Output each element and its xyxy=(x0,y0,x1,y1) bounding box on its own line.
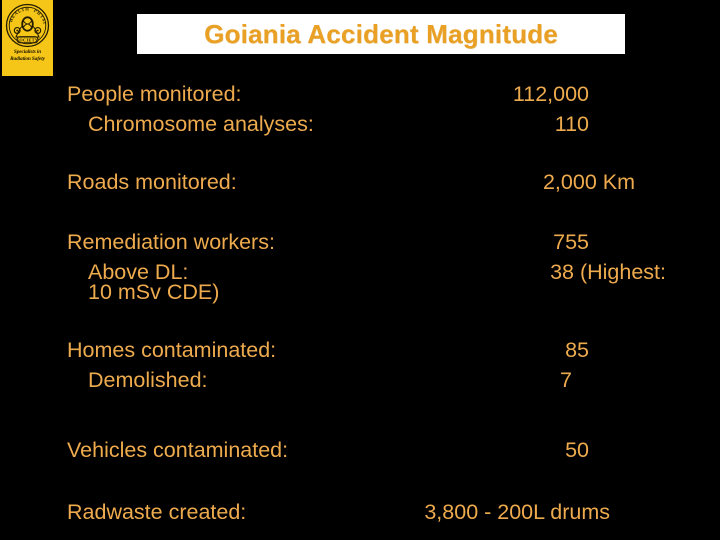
stat-value: 2,000 Km xyxy=(543,170,635,195)
stat-value: 38 (Highest: xyxy=(550,260,666,285)
society-seal-icon: SOCIETY HEALTH PHYSICS xyxy=(5,3,50,48)
presentation-slide: SOCIETY HEALTH PHYSICS Specialists in Ra… xyxy=(0,0,720,540)
slide-body: People monitored:112,000Chromosome analy… xyxy=(0,74,720,540)
stat-label: Vehicles contaminated: xyxy=(67,438,288,463)
stat-label: 10 mSv CDE) xyxy=(88,280,219,305)
stat-value: 85 xyxy=(565,338,589,363)
svg-text:SOCIETY: SOCIETY xyxy=(17,37,39,42)
stat-label: Roads monitored: xyxy=(67,170,237,195)
stat-label: Radwaste created: xyxy=(67,500,246,525)
logo-tagline: Specialists in Radiation Safety xyxy=(10,49,45,63)
stat-value: 112,000 xyxy=(513,82,589,107)
stat-value: 7 xyxy=(560,368,572,393)
slide-title-box: Goiania Accident Magnitude xyxy=(137,14,625,54)
slide-title: Goiania Accident Magnitude xyxy=(204,19,558,50)
stat-value: 50 xyxy=(565,438,589,463)
stat-value: 110 xyxy=(555,112,589,137)
stat-label: Chromosome analyses: xyxy=(88,112,314,137)
stat-value: 755 xyxy=(553,230,589,255)
stat-value: 3,800 - 200L drums xyxy=(424,500,610,525)
stat-label: Demolished: xyxy=(88,368,208,393)
stat-label: Remediation workers: xyxy=(67,230,275,255)
logo-tagline-line2: Radiation Safety xyxy=(10,56,45,63)
logo-tagline-line1: Specialists in xyxy=(10,49,45,56)
stat-label: Homes contaminated: xyxy=(67,338,276,363)
stat-label: People monitored: xyxy=(67,82,242,107)
health-physics-society-logo: SOCIETY HEALTH PHYSICS Specialists in Ra… xyxy=(2,0,53,76)
